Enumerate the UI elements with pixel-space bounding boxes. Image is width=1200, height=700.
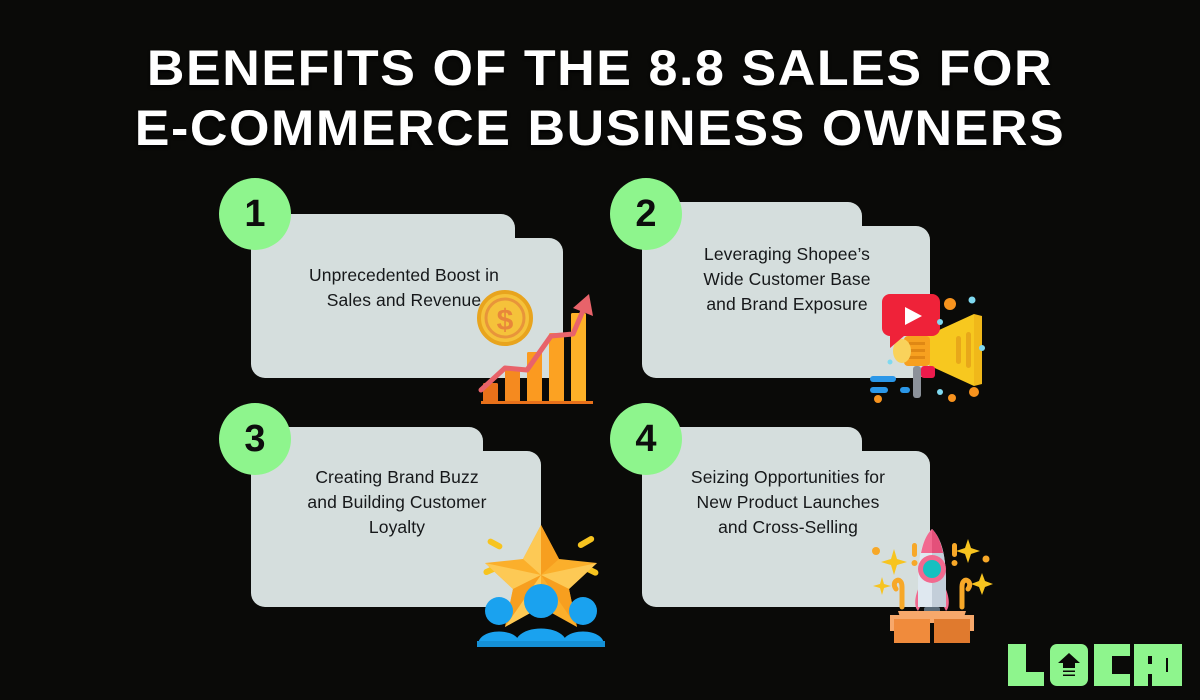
svg-text:$: $	[497, 304, 514, 337]
card-3-badge: 3	[219, 403, 291, 475]
growth-chart-money-icon: $	[477, 286, 597, 406]
locad-wordmark	[1006, 642, 1182, 688]
rocket-launch-box-icon	[868, 515, 996, 643]
star-customers-icon	[477, 519, 605, 647]
card-4-badge: 4	[610, 403, 682, 475]
page-title: Benefits of the 8.8 Sales for E-Commerce…	[0, 38, 1200, 158]
card-3-number: 3	[244, 420, 265, 458]
benefit-card-2[interactable]: 2 Leveraging Shopee’s Wide Customer Base…	[610, 178, 990, 413]
infographic-canvas: Benefits of the 8.8 Sales for E-Commerce…	[0, 0, 1200, 700]
title-line-1: Benefits of the 8.8 Sales for	[0, 38, 1200, 98]
card-1-badge: 1	[219, 178, 291, 250]
card-1-number: 1	[244, 195, 265, 233]
megaphone-video-marketing-icon	[870, 292, 990, 404]
card-4-number: 4	[635, 420, 656, 458]
title-line-2: E-Commerce Business Owners	[0, 98, 1200, 158]
benefit-card-3[interactable]: 3 Creating Brand Buzz and Building Custo…	[219, 403, 599, 638]
card-2-number: 2	[635, 195, 656, 233]
card-2-badge: 2	[610, 178, 682, 250]
benefit-card-4[interactable]: 4 Seizing Opportunities for New Product …	[610, 403, 990, 638]
locad-logo[interactable]: LOCAD	[1006, 642, 1182, 688]
benefit-card-1[interactable]: 1 Unprecedented Boost in Sales and Reven…	[219, 178, 599, 413]
